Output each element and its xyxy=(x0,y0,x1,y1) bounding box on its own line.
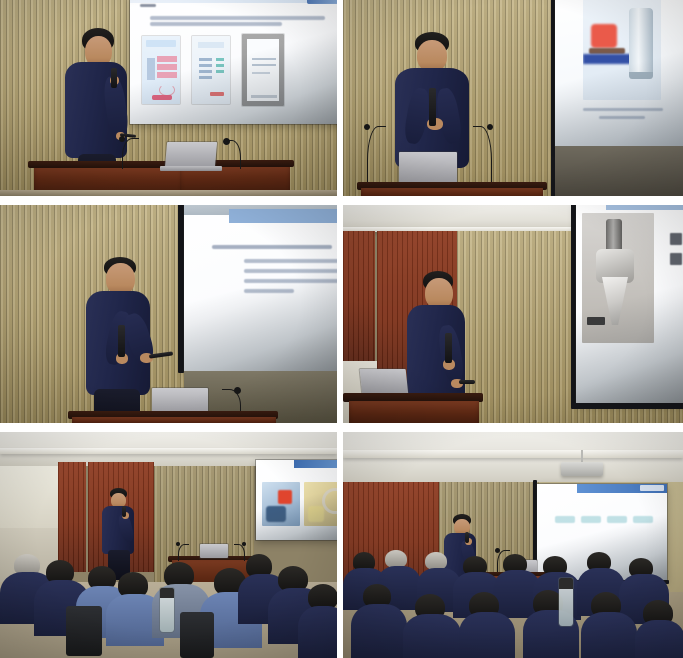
slide-caption-line-2 xyxy=(599,116,645,119)
handheld-microphone xyxy=(445,333,452,363)
ceiling xyxy=(343,432,683,484)
water-bottle xyxy=(160,588,174,632)
handheld-microphone xyxy=(122,506,126,517)
slide-header-accent xyxy=(229,209,337,223)
back-wall xyxy=(0,466,58,528)
photo-cell-2[interactable] xyxy=(343,0,683,196)
audience xyxy=(343,548,683,658)
audience-body xyxy=(581,612,637,658)
slide-header-bar xyxy=(130,0,337,3)
slide-thumbnail-1 xyxy=(142,36,180,104)
slide-thumbnail-3 xyxy=(242,34,284,106)
handheld-microphone xyxy=(465,532,469,543)
gooseneck-microphone-left xyxy=(122,138,139,169)
audience-body xyxy=(403,614,461,658)
photo-cell-4[interactable] xyxy=(343,205,683,423)
slide-section-title xyxy=(140,4,156,7)
photo-cell-3[interactable] xyxy=(0,205,337,423)
audience-body xyxy=(298,606,337,658)
lectern xyxy=(361,188,543,196)
slide-caption-line-1 xyxy=(583,108,663,111)
ceiling-lip xyxy=(343,450,683,458)
slide-body-line-3 xyxy=(244,279,337,283)
slide-title-word-4 xyxy=(633,516,653,523)
gooseneck-mic-head-right xyxy=(242,542,246,546)
slide-caption-char-2 xyxy=(670,253,682,265)
gooseneck-mic-head-left xyxy=(364,124,370,130)
slide-title-word-2 xyxy=(581,516,601,523)
audience-body xyxy=(351,604,407,658)
red-wood-panel-left xyxy=(343,231,375,361)
projection-screen xyxy=(130,0,337,124)
ceiling-lip xyxy=(0,448,337,454)
slide-body-line-2 xyxy=(244,269,337,273)
handheld-microphone xyxy=(111,68,117,88)
audience xyxy=(0,548,337,658)
slide-body-line-4 xyxy=(244,289,294,293)
floor xyxy=(0,190,337,196)
chair-back xyxy=(66,606,102,656)
water-bottle xyxy=(559,578,573,626)
projection-screen xyxy=(256,460,337,540)
chair-back xyxy=(180,612,214,658)
projection-screen xyxy=(555,0,683,146)
slide-logo xyxy=(307,0,337,4)
projection-screen xyxy=(576,205,683,403)
gooseneck-mic-head-left xyxy=(176,542,180,546)
gooseneck-mic-head-right xyxy=(223,138,230,145)
slide-product-photo xyxy=(583,0,661,100)
projection-screen xyxy=(184,205,337,371)
bottle-cap xyxy=(160,588,174,598)
slide-thumbnail-2 xyxy=(192,36,230,104)
slide-photo-left xyxy=(262,482,300,526)
screen-glare xyxy=(184,205,337,371)
slide-logo xyxy=(640,485,664,491)
handheld-microphone xyxy=(118,325,125,357)
slide-body-line-1 xyxy=(244,259,337,263)
slide-header-accent xyxy=(606,205,683,210)
laptop-lid xyxy=(360,369,409,395)
slide-caption-char-1 xyxy=(670,233,682,245)
slide-title xyxy=(212,245,332,249)
lectern xyxy=(349,401,479,423)
laptop-lid xyxy=(165,142,217,168)
slide-title-word-3 xyxy=(607,516,627,523)
gooseneck-microphone-left xyxy=(367,126,386,183)
photo-cell-5[interactable] xyxy=(0,432,337,658)
photo-collage xyxy=(0,0,683,658)
slide-body-line-1 xyxy=(150,16,325,20)
laptop-base xyxy=(160,166,222,171)
laser-pointer xyxy=(459,380,475,384)
screen-bottom-frame xyxy=(571,403,683,409)
ceiling-projector xyxy=(561,462,603,476)
laptop-lid xyxy=(399,152,457,184)
screen-lower-shadow xyxy=(555,146,683,196)
slide-header-bar xyxy=(294,460,337,468)
lectern xyxy=(72,417,276,423)
audience-body xyxy=(459,612,515,658)
bottle-cap xyxy=(559,578,573,589)
photo-cell-6[interactable] xyxy=(343,432,683,658)
handheld-microphone xyxy=(429,88,436,126)
slide-body-line-2 xyxy=(150,22,282,26)
gooseneck-mic-head xyxy=(234,387,241,394)
slide-product-photo xyxy=(582,213,654,343)
photo-cell-1[interactable] xyxy=(0,0,337,196)
gooseneck-mic-head-left xyxy=(119,136,125,142)
gooseneck-mic-head-right xyxy=(487,124,493,130)
audience-body xyxy=(635,620,683,658)
slide-photo-right xyxy=(304,482,337,526)
slide-title-word-1 xyxy=(555,516,575,523)
